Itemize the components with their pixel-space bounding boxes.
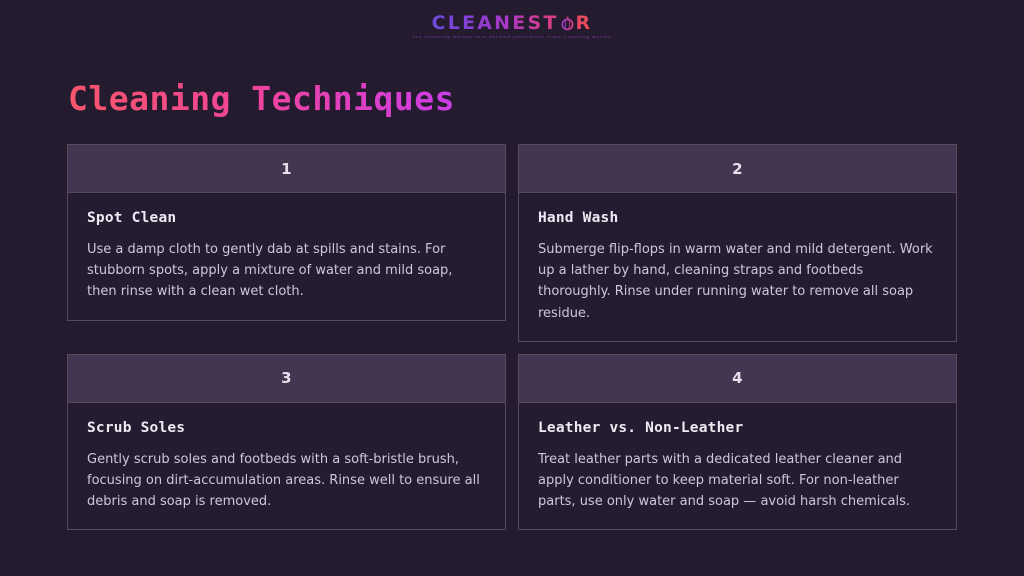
card-header: 4 — [518, 354, 957, 403]
globe-icon — [560, 16, 575, 31]
card-body: Leather vs. Non-Leather Treat leather pa… — [518, 403, 957, 531]
card-step-number: 1 — [281, 160, 292, 178]
card-description: Treat leather parts with a dedicated lea… — [538, 449, 937, 512]
card-description: Gently scrub soles and footbeds with a s… — [87, 449, 486, 512]
card-step-number: 3 — [281, 369, 292, 387]
brand-tagline: Pro Cleaning Guides And Service Journali… — [0, 36, 1024, 41]
card-body: Spot Clean Use a damp cloth to gently da… — [67, 193, 506, 321]
card-header: 1 — [67, 144, 506, 193]
card-description: Submerge flip-flops in warm water and mi… — [538, 239, 937, 323]
brand-name-part-1: CLEANEST — [432, 14, 559, 33]
card-title: Scrub Soles — [87, 420, 486, 437]
card-step-number: 2 — [732, 160, 743, 178]
brand-logo: CLEANEST R — [0, 14, 1024, 41]
card-body: Scrub Soles Gently scrub soles and footb… — [67, 403, 506, 531]
technique-card-1: 1 Spot Clean Use a damp cloth to gently … — [67, 144, 506, 342]
page-title: Cleaning Techniques — [68, 78, 455, 119]
brand-wordmark: CLEANEST R — [432, 14, 593, 33]
card-step-number: 4 — [732, 369, 743, 387]
card-title: Leather vs. Non-Leather — [538, 420, 937, 437]
technique-card-4: 4 Leather vs. Non-Leather Treat leather … — [518, 354, 957, 531]
brand-name-part-2: R — [576, 14, 593, 33]
card-header: 3 — [67, 354, 506, 403]
technique-card-2: 2 Hand Wash Submerge flip-flops in warm … — [518, 144, 957, 342]
card-body: Hand Wash Submerge flip-flops in warm wa… — [518, 193, 957, 342]
card-header: 2 — [518, 144, 957, 193]
card-title: Hand Wash — [538, 210, 937, 227]
card-description: Use a damp cloth to gently dab at spills… — [87, 239, 486, 302]
techniques-grid: 1 Spot Clean Use a damp cloth to gently … — [67, 144, 957, 530]
slide-canvas: CLEANEST R — [0, 0, 1024, 576]
technique-card-3: 3 Scrub Soles Gently scrub soles and foo… — [67, 354, 506, 531]
card-title: Spot Clean — [87, 210, 486, 227]
